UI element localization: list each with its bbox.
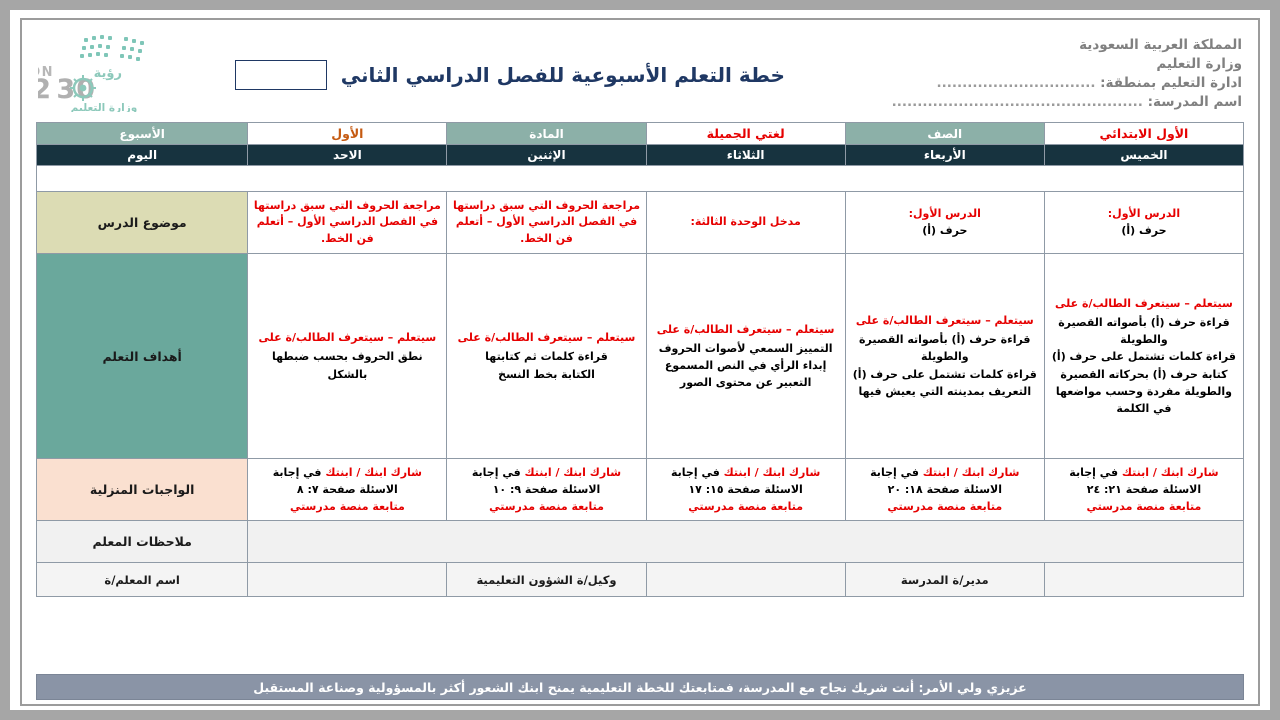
topic-cell-wednesday[interactable]: الدرس الأول: حرف (أ): [845, 192, 1044, 254]
objective-line: التعريف بمدينته التي يعيش فيها: [850, 383, 1040, 400]
objective-line: التعبير عن محتوى الصور: [651, 374, 841, 391]
topic-cell-thursday[interactable]: الدرس الأول: حرف (أ): [1044, 192, 1243, 254]
homework-follow: متابعة منصة مدرستي: [451, 498, 641, 515]
homework-cell-tuesday[interactable]: شارك ابنك / ابنتك في إجابة الاسئلة صفحة …: [646, 459, 845, 521]
homework-row: شارك ابنك / ابنتك في إجابة الاسئلة صفحة …: [37, 459, 1244, 521]
school-name-line: اسم المدرسة: ...........................…: [892, 93, 1242, 112]
objectives-row: سيتعلم – سيتعرف الطالب/ة على قراءة حرف (…: [37, 254, 1244, 459]
day-monday: الإثنين: [447, 145, 646, 166]
day-wednesday: الأربعاء: [845, 145, 1044, 166]
topic-red-thursday: الدرس الأول:: [1049, 206, 1239, 223]
objectives-head-monday: سيتعلم – سيتعرف الطالب/ة على: [451, 329, 641, 346]
homework-follow: متابعة منصة مدرستي: [651, 498, 841, 515]
topic-cell-tuesday[interactable]: مدخل الوحدة الثالثة:: [646, 192, 845, 254]
objectives-cell-wednesday[interactable]: سيتعلم – سيتعرف الطالب/ة على قراءة حرف (…: [845, 254, 1044, 459]
objective-line: قراءة كلمات تشتمل على حرف (أ): [850, 366, 1040, 383]
homework-lead-red: شارك ابنك / ابنتك: [525, 466, 622, 479]
notes-row-label: ملاحظات المعلم: [37, 521, 248, 563]
objectives-row-label: أهداف التعلم: [37, 254, 248, 459]
teacher-value[interactable]: [248, 563, 447, 597]
date-row: [37, 166, 1244, 192]
topic-row-label: موضوع الدرس: [37, 192, 248, 254]
topic-red-monday: مراجعة الحروف التي سبق دراستها في الفصل …: [451, 198, 641, 248]
ministry-line: وزارة التعليم: [892, 55, 1242, 74]
parent-message-footer: عزيزي ولي الأمر: أنت شريك نجاح مع المدرس…: [36, 674, 1244, 700]
education-department-dots: ...............................: [936, 75, 1095, 91]
topic-black-thursday: حرف (أ): [1049, 223, 1239, 240]
svg-text:30: 30: [56, 74, 96, 105]
homework-follow: متابعة منصة مدرستي: [850, 498, 1040, 515]
subject-value: لغتي الجميلة: [707, 126, 785, 141]
country-line: المملكة العربية السعودية: [892, 36, 1242, 55]
notes-value[interactable]: [248, 521, 1244, 563]
day-thursday: الخميس: [1044, 145, 1243, 166]
topic-red-sunday: مراجعة الحروف التي سبق دراستها في الفصل …: [252, 198, 442, 248]
day-tuesday: الثلاثاء: [646, 145, 845, 166]
day-sunday: الاحد: [248, 145, 447, 166]
vision-2030-logo: VISION رؤية 2 30: [38, 32, 168, 112]
notes-row: ملاحظات المعلم: [37, 521, 1244, 563]
homework-pages: ٧: ٨: [297, 483, 319, 496]
homework-row-label: الواجبات المنزلية: [37, 459, 248, 521]
homework-pages: ٩: ١٠: [493, 483, 521, 496]
topic-cell-monday[interactable]: مراجعة الحروف التي سبق دراستها في الفصل …: [447, 192, 646, 254]
objectives-cell-thursday[interactable]: سيتعلم – سيتعرف الطالب/ة على قراءة حرف (…: [1044, 254, 1243, 459]
affairs-label: وكيل/ة الشؤون التعليمية: [447, 563, 646, 597]
homework-lead-red: شارك ابنك / ابنتك: [724, 466, 821, 479]
topic-red-wednesday: الدرس الأول:: [850, 206, 1040, 223]
homework-lead-red: شارك ابنك / ابنتك: [325, 466, 422, 479]
document-header: المملكة العربية السعودية وزارة التعليم ا…: [36, 26, 1244, 122]
school-name-label: اسم المدرسة:: [1148, 94, 1242, 110]
topic-row: الدرس الأول: حرف (أ) الدرس الأول: حرف (أ…: [37, 192, 1244, 254]
objective-line: نطق الحروف بحسب ضبطها بالشكل: [252, 348, 442, 382]
week-number-input[interactable]: [235, 60, 327, 90]
svg-text:2: 2: [38, 74, 52, 105]
page-inner-frame: المملكة العربية السعودية وزارة التعليم ا…: [10, 10, 1270, 710]
homework-pages: ١٨: ٢٠: [888, 483, 923, 496]
weekly-plan-table: الأول الابتدائي الصف لغتي الجميلة المادة…: [36, 122, 1244, 597]
svg-text:رؤية: رؤية: [94, 66, 122, 81]
principal-value[interactable]: [646, 563, 845, 597]
school-name-dots: ........................................…: [892, 94, 1143, 110]
grade-value: الأول الابتدائي: [1100, 126, 1189, 141]
week-label: الأسبوع: [37, 123, 248, 145]
signature-row-label: اسم المعلم/ة: [37, 563, 248, 597]
homework-follow: متابعة منصة مدرستي: [252, 498, 442, 515]
objectives-head-tuesday: سيتعلم – سيتعرف الطالب/ة على: [651, 321, 841, 338]
objectives-cell-sunday[interactable]: سيتعلم – سيتعرف الطالب/ة على نطق الحروف …: [248, 254, 447, 459]
grade-label: الصف: [845, 123, 1044, 145]
objective-line: قراءة كلمات ثم كتابتها: [451, 348, 641, 365]
homework-cell-wednesday[interactable]: شارك ابنك / ابنتك في إجابة الاسئلة صفحة …: [845, 459, 1044, 521]
objective-line: قراءة كلمات تشتمل على حرف (أ): [1049, 348, 1239, 365]
homework-pages: ٢١: ٢٤: [1087, 483, 1122, 496]
homework-follow: متابعة منصة مدرستي: [1049, 498, 1239, 515]
principal-label: مدير/ة المدرسة: [845, 563, 1044, 597]
info-row: الأول الابتدائي الصف لغتي الجميلة المادة…: [37, 123, 1244, 145]
topic-black-wednesday: حرف (أ): [850, 223, 1040, 240]
homework-lead-red: شارك ابنك / ابنتك: [923, 466, 1020, 479]
homework-cell-thursday[interactable]: شارك ابنك / ابنتك في إجابة الاسئلة صفحة …: [1044, 459, 1243, 521]
signature-row: مدير/ة المدرسة وكيل/ة الشؤون التعليمية ا…: [37, 563, 1244, 597]
subject-label: المادة: [447, 123, 646, 145]
title-area: خطة التعلم الأسبوعية للفصل الدراسي الثان…: [235, 30, 785, 90]
education-department-label: ادارة التعليم بمنطقة:: [1100, 75, 1242, 91]
education-department-line: ادارة التعليم بمنطقة: ..................…: [892, 74, 1242, 93]
objectives-head-wednesday: سيتعلم – سيتعرف الطالب/ة على: [850, 312, 1040, 329]
objective-line: التمييز السمعي لأصوات الحروف: [651, 340, 841, 357]
objectives-cell-monday[interactable]: سيتعلم – سيتعرف الطالب/ة على قراءة كلمات…: [447, 254, 646, 459]
homework-cell-sunday[interactable]: شارك ابنك / ابنتك في إجابة الاسئلة صفحة …: [248, 459, 447, 521]
organization-block: المملكة العربية السعودية وزارة التعليم ا…: [892, 30, 1242, 113]
objective-line: قراءة حرف (أ) بأصواته القصيرة والطويلة: [1049, 314, 1239, 348]
day-label: اليوم: [37, 145, 248, 166]
objective-line: كتابة حرف (أ) بحركاته القصيرة والطويلة م…: [1049, 366, 1239, 417]
homework-pages: ١٥: ١٧: [688, 483, 723, 496]
worksheet-sheet: المملكة العربية السعودية وزارة التعليم ا…: [20, 18, 1260, 706]
objective-line: قراءة حرف (أ) بأصواته القصيرة والطويلة: [850, 331, 1040, 365]
vision-2030-logo-icon: VISION رؤية 2 30: [38, 32, 168, 112]
day-row: الخميس الأربعاء الثلاثاء الإثنين الاحد ا…: [37, 145, 1244, 166]
homework-lead-red: شارك ابنك / ابنتك: [1122, 466, 1219, 479]
sheet-spacer: [36, 597, 1244, 667]
page-title: خطة التعلم الأسبوعية للفصل الدراسي الثان…: [341, 63, 785, 87]
week-value: الأول: [331, 126, 363, 141]
objective-line: إبداء الرأي في النص المسموع: [651, 357, 841, 374]
page-frame: المملكة العربية السعودية وزارة التعليم ا…: [0, 0, 1280, 720]
signature-blank-right[interactable]: [1044, 563, 1243, 597]
homework-cell-monday[interactable]: شارك ابنك / ابنتك في إجابة الاسئلة صفحة …: [447, 459, 646, 521]
objective-line: الكتابة بخط النسخ: [451, 366, 641, 383]
topic-cell-sunday[interactable]: مراجعة الحروف التي سبق دراستها في الفصل …: [248, 192, 447, 254]
objectives-head-sunday: سيتعلم – سيتعرف الطالب/ة على: [252, 329, 442, 346]
svg-text:وزارة التعليم: وزارة التعليم: [71, 102, 138, 112]
objectives-cell-tuesday[interactable]: سيتعلم – سيتعرف الطالب/ة على التمييز الس…: [646, 254, 845, 459]
date-row-cell[interactable]: [37, 166, 1244, 192]
topic-red-tuesday: مدخل الوحدة الثالثة:: [651, 214, 841, 231]
objectives-head-thursday: سيتعلم – سيتعرف الطالب/ة على: [1049, 295, 1239, 312]
